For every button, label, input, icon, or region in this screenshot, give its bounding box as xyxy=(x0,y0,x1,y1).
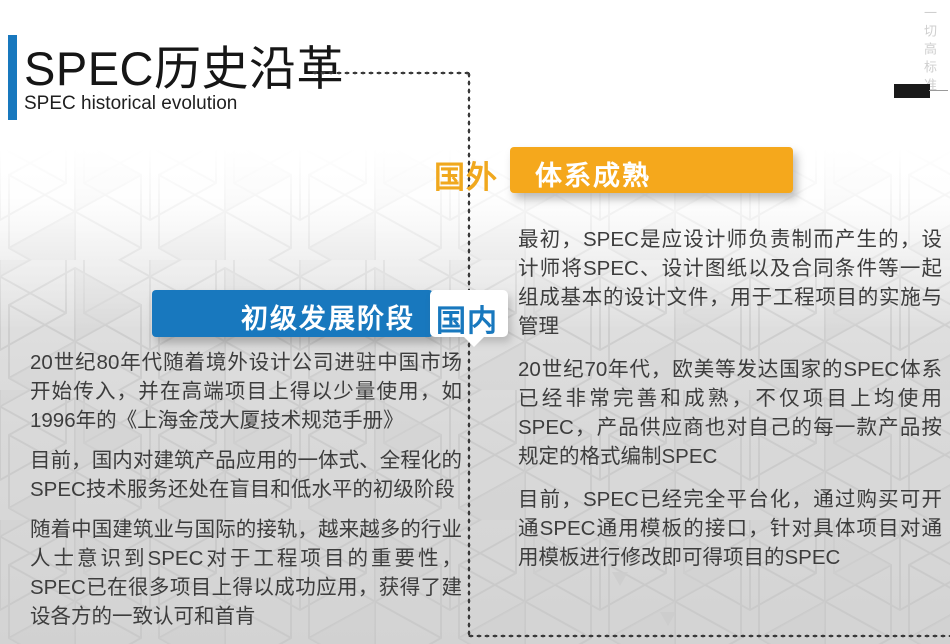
corner-block-mark xyxy=(894,84,930,98)
domestic-paragraph-3: 随着中国建筑业与国际的接轨，越来越多的行业人士意识到SPEC对于工程项目的重要性… xyxy=(30,515,462,631)
domestic-paragraph-2: 目前，国内对建筑产品应用的一体式、全程化的SPEC技术服务还处在盲目和低水平的初… xyxy=(30,446,462,504)
dotted-line-top-horizontal xyxy=(311,71,471,75)
domestic-text-column: 20世纪80年代随着境外设计公司进驻中国市场开始传入，并在高端项目上得以少量使用… xyxy=(30,348,462,642)
corner-line-mark xyxy=(929,90,948,91)
dotted-line-vertical-lower xyxy=(467,341,471,637)
page-title: SPEC历史沿革 xyxy=(24,30,344,99)
foreign-paragraph-2: 20世纪70年代，欧美等发达国家的SPEC体系已经非常完善和成熟，不仅项目上均使… xyxy=(518,355,942,471)
domestic-tag-label: 国内 xyxy=(436,296,498,340)
title-accent-bar xyxy=(8,35,17,120)
foreign-text-column: 最初，SPEC是应设计师负责制而产生的，设计师将SPEC、设计图纸以及合同条件等… xyxy=(518,225,942,586)
foreign-tag-label: 国外 xyxy=(434,152,498,197)
foreign-paragraph-1: 最初，SPEC是应设计师负责制而产生的，设计师将SPEC、设计图纸以及合同条件等… xyxy=(518,225,942,341)
corner-vertical-text: 一切高标准 xyxy=(923,6,936,96)
domestic-banner-label: 初级发展阶段 xyxy=(241,297,415,336)
domestic-banner: 初级发展阶段 xyxy=(152,290,433,337)
page-subtitle: SPEC historical evolution xyxy=(24,93,237,115)
foreign-banner-label: 体系成熟 xyxy=(535,154,651,193)
foreign-paragraph-3: 目前，SPEC已经完全平台化，通过购买可开通SPEC通用模板的接口，针对具体项目… xyxy=(518,485,942,572)
slide-canvas: SPEC历史沿革 SPEC historical evolution 一切高标准… xyxy=(0,0,950,644)
domestic-paragraph-1: 20世纪80年代随着境外设计公司进驻中国市场开始传入，并在高端项目上得以少量使用… xyxy=(30,348,462,435)
domestic-tag-box: 国内 xyxy=(430,290,508,337)
dotted-line-bottom-horizontal xyxy=(467,634,950,638)
foreign-banner: 体系成熟 xyxy=(510,147,793,193)
domestic-tag-pointer xyxy=(463,336,485,347)
